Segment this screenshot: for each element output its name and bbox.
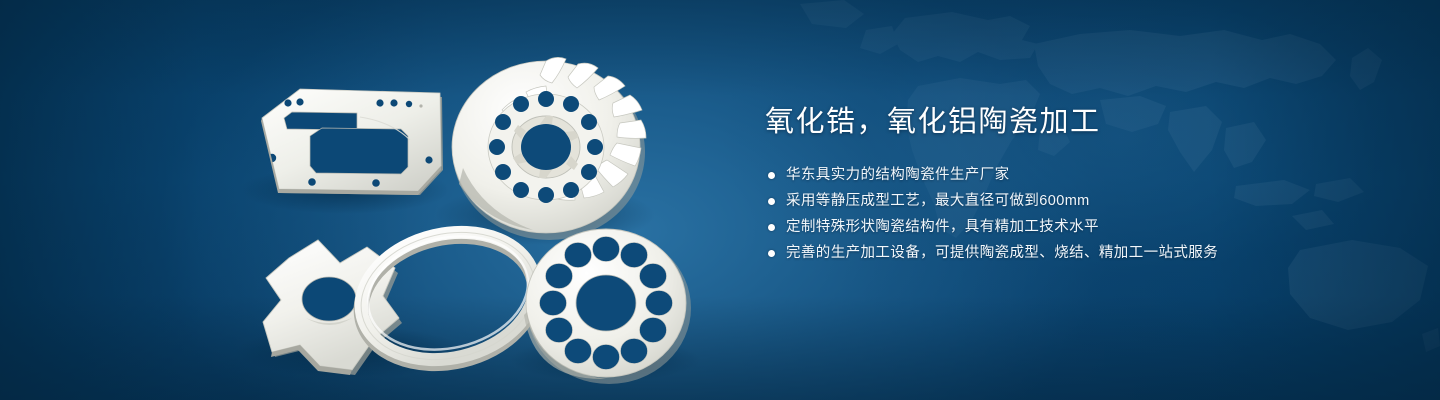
feature-text: 定制特殊形状陶瓷结构件，具有精加工技术水平: [786, 216, 1099, 238]
bullet-dot-icon: [768, 224, 775, 231]
list-item: 采用等静压成型工艺，最大直径可做到600mm: [765, 190, 1325, 212]
feature-text: 完善的生产加工设备，可提供陶瓷成型、烧结、精加工一站式服务: [786, 242, 1218, 264]
bullet-dot-icon: [768, 172, 775, 179]
ceramic-perforated-disc: [524, 229, 691, 384]
hero-banner: 氧化锆，氧化铝陶瓷加工 华东具实力的结构陶瓷件生产厂家 采用等静压成型工艺，最大…: [0, 0, 1440, 400]
list-item: 华东具实力的结构陶瓷件生产厂家: [765, 164, 1325, 186]
page-title: 氧化锆，氧化铝陶瓷加工: [765, 104, 1325, 140]
feature-text: 采用等静压成型工艺，最大直径可做到600mm: [786, 190, 1090, 212]
feature-text: 华东具实力的结构陶瓷件生产厂家: [786, 164, 1010, 186]
product-photo-group: [0, 0, 760, 400]
banner-copy: 氧化锆，氧化铝陶瓷加工 华东具实力的结构陶瓷件生产厂家 采用等静压成型工艺，最大…: [765, 104, 1325, 268]
bullet-dot-icon: [768, 198, 775, 205]
feature-list: 华东具实力的结构陶瓷件生产厂家 采用等静压成型工艺，最大直径可做到600mm 定…: [765, 164, 1325, 264]
ceramic-impeller-disc: [452, 57, 646, 240]
list-item: 完善的生产加工设备，可提供陶瓷成型、烧结、精加工一站式服务: [765, 242, 1325, 264]
list-item: 定制特殊形状陶瓷结构件，具有精加工技术水平: [765, 216, 1325, 238]
ceramic-mounting-plate: [261, 89, 443, 195]
bullet-dot-icon: [768, 250, 775, 257]
